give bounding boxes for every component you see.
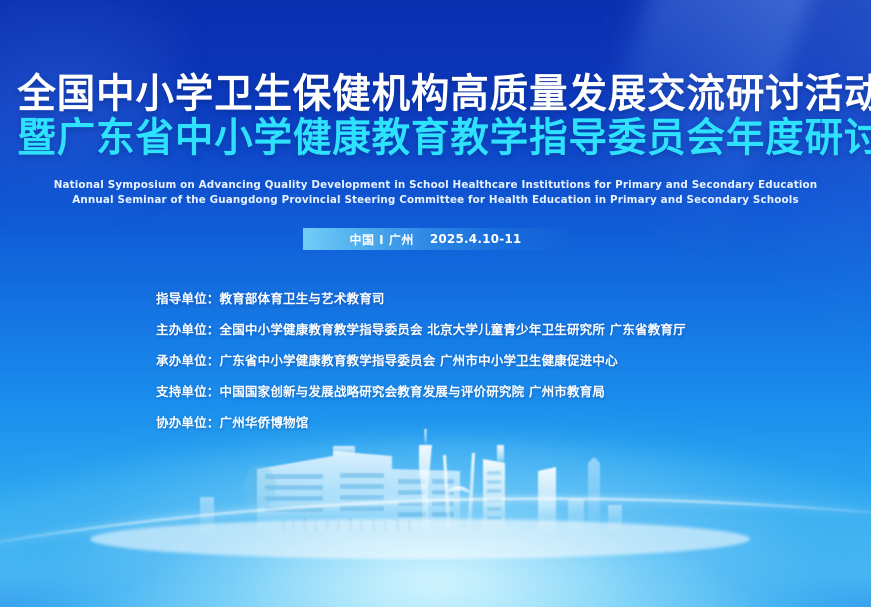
organization-label: 指导单位： [156,288,220,307]
background-light-streak-right-secondary [552,0,840,323]
organization-value: 广州华侨博物馆 [220,412,309,431]
organization-label: 承办单位： [156,350,220,369]
organization-value: 中国国家创新与发展战略研究会教育发展与评价研究院 广州市教育局 [220,381,606,400]
organization-value: 全国中小学健康教育教学指导委员会 北京大学儿童青少年卫生研究所 广东省教育厅 [220,319,686,338]
office-tower-silhouette [483,445,505,533]
organization-label: 主办单位： [156,319,220,338]
title-line-secondary: 暨广东省中小学健康教育教学指导委员会年度研讨活动 [17,116,853,160]
tower-left-far [200,497,214,533]
organization-row: 协办单位： 广州华侨博物馆 [156,412,686,431]
tower-right-1 [538,467,556,533]
city-skyline-silhouette [0,427,871,607]
tower-right-2 [588,457,600,533]
organization-value: 教育部体育卫生与艺术教育司 [220,288,385,307]
venue-date: 2025.4.10-11 [430,232,522,246]
subtitle-line-primary: National Symposium on Advancing Quality … [7,178,865,193]
venue-date-bar: 中国 I 广州 2025.4.10-11 [303,228,569,250]
organization-label: 支持单位： [156,381,220,400]
organization-list: 指导单位： 教育部体育卫生与艺术教育司 主办单位： 全国中小学健康教育教学指导委… [156,288,686,431]
title-line-primary: 全国中小学卫生保健机构高质量发展交流研讨活动 [17,72,853,116]
organization-row: 承办单位： 广东省中小学健康教育教学指导委员会 广州市中小学卫生健康促进中心 [156,350,686,369]
organization-label: 协办单位： [156,412,220,431]
background-glow-bottom [0,437,871,607]
tower-right-3 [568,499,584,533]
canton-tower-silhouette [419,429,432,533]
organization-row: 主办单位： 全国中小学健康教育教学指导委员会 北京大学儿童青少年卫生研究所 广东… [156,319,686,338]
poster-title: 全国中小学卫生保健机构高质量发展交流研讨活动 暨广东省中小学健康教育教学指导委员… [0,72,871,160]
arch-structure-silhouette [443,453,475,533]
tower-right-4 [608,505,622,533]
conference-poster: 全国中小学卫生保健机构高质量发展交流研讨活动 暨广东省中小学健康教育教学指导委员… [0,0,871,607]
subtitle-line-secondary: Annual Seminar of the Guangdong Provinci… [7,193,865,208]
poster-subtitle: National Symposium on Advancing Quality … [0,178,871,208]
venue-location: 中国 I 广州 [350,231,414,248]
organization-value: 广东省中小学健康教育教学指导委员会 广州市中小学卫生健康促进中心 [220,350,618,369]
organization-row: 支持单位： 中国国家创新与发展战略研究会教育发展与评价研究院 广州市教育局 [156,381,686,400]
organization-row: 指导单位： 教育部体育卫生与艺术教育司 [156,288,686,307]
school-building-silhouette [244,446,460,531]
